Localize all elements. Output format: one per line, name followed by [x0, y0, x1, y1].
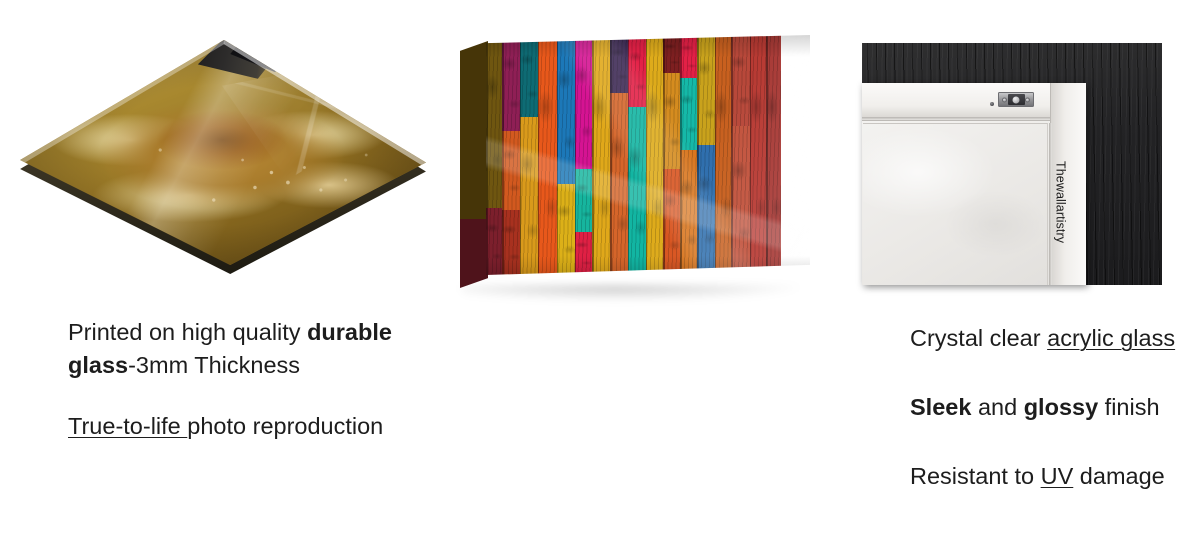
- wood-plank: [750, 35, 767, 275]
- wood-plank-segment: [575, 169, 592, 231]
- wood-plank-segment: [502, 210, 519, 275]
- bracket-screw-left: [1002, 97, 1007, 102]
- canvas-side-segment: [460, 132, 488, 218]
- glass-printed-face-rose: [16, 30, 428, 280]
- wood-plank-segment: [575, 35, 592, 169]
- canvas-drop-shadow: [462, 285, 802, 301]
- bracket-nail-dot: [990, 102, 994, 106]
- wood-plank-segment: [663, 35, 680, 73]
- wood-plank-segment: [502, 131, 519, 210]
- wood-plank-segment: [592, 35, 610, 275]
- canvas-side-segment: [460, 41, 488, 108]
- bracket-center-hole: [1008, 94, 1025, 105]
- wood-plank-segment: [750, 35, 767, 275]
- wood-plank-segment: [486, 35, 502, 208]
- wood-plank-segment: [502, 35, 519, 131]
- wood-plank: [592, 35, 610, 275]
- canvas-side-segment: [460, 108, 488, 133]
- hanging-bracket-icon: [998, 92, 1034, 107]
- bracket-screw-right: [1025, 97, 1030, 102]
- wood-plank-segment: [538, 35, 557, 275]
- brand-name-text: Thewallartistry: [1054, 161, 1067, 243]
- glass-window-reflection: [222, 65, 403, 180]
- wood-plank-segment: [663, 73, 680, 169]
- wood-plank: [486, 35, 502, 275]
- wood-plank-segment: [663, 169, 680, 275]
- wood-plank: [646, 35, 663, 275]
- wood-plank-segment: [680, 150, 697, 275]
- product-image-stage-3: Thewallartistry: [850, 0, 1200, 300]
- wood-plank: [575, 35, 592, 275]
- wood-plank-segment: [697, 35, 714, 145]
- wood-plank-segment: [766, 35, 780, 275]
- product-feature-infographic: Printed on high quality durable glass-3m…: [0, 0, 1200, 548]
- wood-plank: [557, 35, 575, 275]
- wood-plank-segment: [557, 35, 575, 184]
- wood-plank: [502, 35, 519, 275]
- wood-plank-segment: [557, 184, 575, 275]
- wood-plank: [538, 35, 557, 275]
- canvas-printed-face-wood-planks: [486, 35, 810, 275]
- white-frame-back: Thewallartistry: [862, 83, 1086, 285]
- wood-plank-segment: [697, 145, 714, 275]
- product-image-stage-2: [440, 0, 850, 300]
- wood-plank-segment: [628, 107, 646, 275]
- frame-groove-horizontal: [862, 117, 1050, 120]
- feature-printed-quality: Printed on high quality durable glass-3m…: [68, 316, 398, 382]
- feature-true-to-life: True-to-life photo reproduction: [68, 410, 398, 443]
- product-image-stage-1: [0, 0, 440, 300]
- wood-plank-segment: [575, 232, 592, 275]
- frame-back-image: Thewallartistry: [862, 43, 1162, 285]
- wood-plank-segment: [610, 93, 627, 275]
- canvas-side-segment: [460, 219, 488, 288]
- wood-plank-segment: [486, 208, 502, 275]
- wood-plank: [766, 35, 780, 275]
- wood-plank-segment: [610, 35, 627, 93]
- glass-print-image: [16, 30, 428, 280]
- wood-plank-segment: [680, 78, 697, 150]
- wood-plank-segment: [731, 35, 749, 126]
- wood-plank: [663, 35, 680, 275]
- wood-plank-segment: [715, 35, 732, 275]
- wood-plank-segment: [520, 117, 538, 275]
- canvas-wrapped-side-edge: [460, 41, 488, 288]
- wood-plank: [680, 35, 697, 275]
- acrylic-canvas-image: [460, 35, 810, 285]
- brand-label-strip: Thewallartistry: [1050, 161, 1070, 285]
- wood-plank: [697, 35, 714, 275]
- wood-plank: [628, 35, 646, 275]
- feature-text-block-1: Printed on high quality durable glass-3m…: [68, 316, 398, 443]
- feature-column-glass-print: Printed on high quality durable glass-3m…: [0, 0, 440, 548]
- wood-plank-segment: [680, 35, 697, 78]
- feature-column-ready-to-hang: Thewallartistry Ready-to-hang out of the…: [850, 0, 1200, 548]
- feature-column-acrylic-glass: Crystal clear acrylic glass Sleek and gl…: [440, 0, 850, 548]
- wood-plank: [520, 35, 538, 275]
- wood-plank-segment: [646, 35, 663, 275]
- wood-plank: [610, 35, 627, 275]
- wood-plank-segment: [628, 35, 646, 107]
- wood-plank: [731, 35, 749, 275]
- frame-backing-board: [863, 123, 1048, 285]
- wood-plank-segment: [731, 126, 749, 275]
- wood-plank-segment: [520, 35, 538, 117]
- wood-plank: [715, 35, 732, 275]
